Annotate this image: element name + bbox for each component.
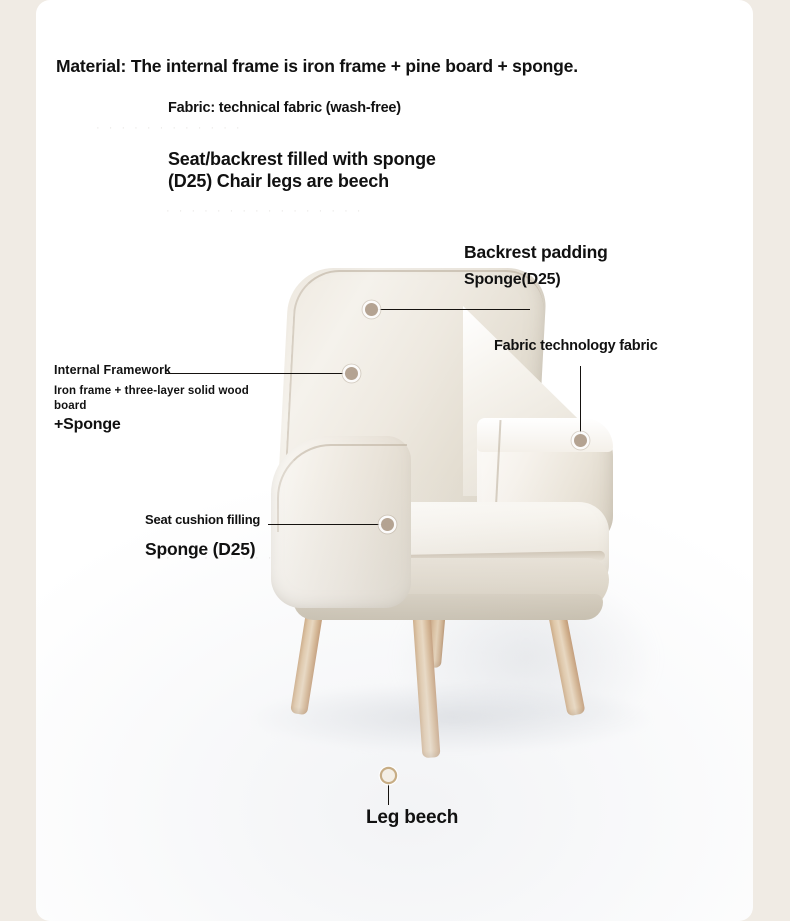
heading-seat-backrest-line2: (D25) Chair legs are beech: [168, 171, 389, 191]
leader-line-internal-framework: [166, 373, 352, 374]
callout-dot-leg-beech: [382, 769, 395, 782]
heading-material: Material: The internal frame is iron fra…: [56, 55, 578, 77]
callout-seat-cushion-title: Seat cushion filling: [145, 512, 260, 529]
callout-fabric-technology-title: Fabric technology fabric: [494, 337, 658, 356]
callout-internal-framework-detail: Iron frame + three-layer solid woodboard: [54, 384, 249, 414]
callout-dot-fabric-technology: [574, 434, 587, 447]
callout-dot-seat-cushion: [381, 518, 394, 531]
callout-internal-framework-title: Internal Framework: [54, 362, 171, 378]
product-card: · · · · · · · · · · · · · · · · · · · · …: [36, 0, 753, 921]
callout-dot-backrest-padding: [365, 303, 378, 316]
callout-seat-cushion-detail: Sponge (D25): [145, 538, 255, 560]
leader-line-leg-beech: [388, 781, 389, 805]
heading-fabric: Fabric: technical fabric (wash-free): [168, 99, 401, 118]
callout-internal-framework-detail-line1: Iron frame + three-layer solid wood: [54, 385, 249, 397]
callout-backrest-padding-title: Backrest padding: [464, 241, 608, 263]
leader-line-backrest-padding: [372, 309, 530, 310]
callout-internal-framework-detail-line2: board: [54, 400, 86, 412]
heading-seat-backrest-line1: Seat/backrest filled with sponge: [168, 149, 436, 169]
callout-dot-internal-framework: [345, 367, 358, 380]
product-infographic-page: · · · · · · · · · · · · · · · · · · · · …: [0, 0, 790, 921]
heading-seat-backrest: Seat/backrest filled with sponge(D25) Ch…: [168, 148, 436, 193]
leg-foot-cap: [422, 750, 440, 758]
chair-floor-shadow: [251, 683, 651, 753]
watermark-line-2: · · · · · · · · · · · · · · · ·: [166, 205, 496, 219]
leader-line-seat-cushion: [268, 524, 388, 525]
callout-backrest-padding-detail: Sponge(D25): [464, 270, 560, 290]
watermark-line-1: · · · · · · · · · · · ·: [96, 122, 516, 136]
callout-leg-beech-title: Leg beech: [366, 806, 458, 830]
leader-line-fabric-technology: [580, 366, 581, 438]
callout-internal-framework-sponge: +Sponge: [54, 415, 121, 435]
